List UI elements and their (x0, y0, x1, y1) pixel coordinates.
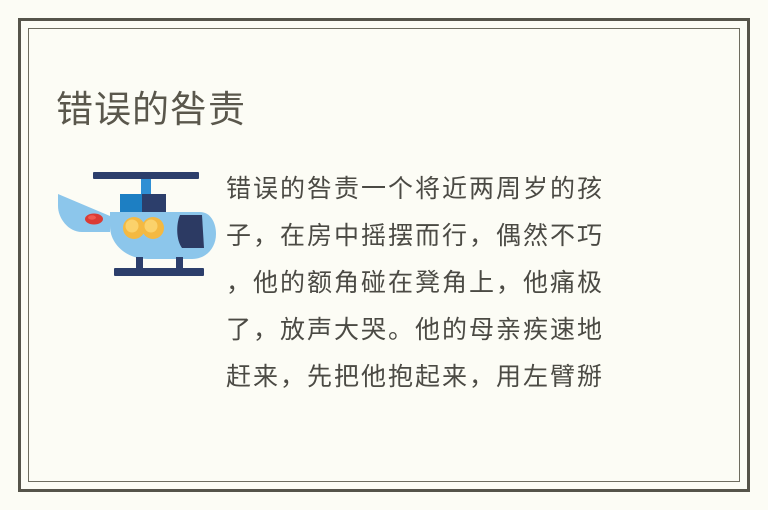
article-line: 赶来，先把他抱起来，用左臂掰 (226, 354, 650, 401)
article-line: 了，放声大哭。他的母亲疾速地 (226, 307, 650, 354)
article-line: 子，在房中摇摆而行，偶然不巧 (226, 213, 650, 260)
article-body: 错误的咎责一个将近两周岁的孩 子，在房中摇摆而行，偶然不巧 ，他的额角碰在凳角上… (226, 166, 650, 401)
landing-skid-bar-icon (114, 268, 204, 276)
page-title: 错误的咎责 (56, 87, 246, 133)
tail-boom-icon (58, 194, 110, 232)
skid-strut-left-icon (136, 257, 143, 269)
cabin-window-right-highlight-icon (145, 220, 158, 233)
cabin-window-left-highlight-icon (126, 220, 139, 233)
nose-light-highlight-icon (88, 215, 96, 219)
skid-strut-right-icon (176, 257, 183, 269)
page-content: 错误的咎责 (0, 0, 768, 510)
article-line: 错误的咎责一个将近两周岁的孩 (226, 166, 650, 213)
helicopter-illustration (52, 160, 222, 280)
engine-housing-right-icon (142, 194, 166, 212)
article-line: ，他的额角碰在凳角上，他痛极 (226, 260, 650, 307)
page-root: 错误的咎责 (0, 0, 768, 510)
main-rotor-blade-icon (93, 172, 199, 179)
cockpit-window-icon (177, 215, 204, 248)
